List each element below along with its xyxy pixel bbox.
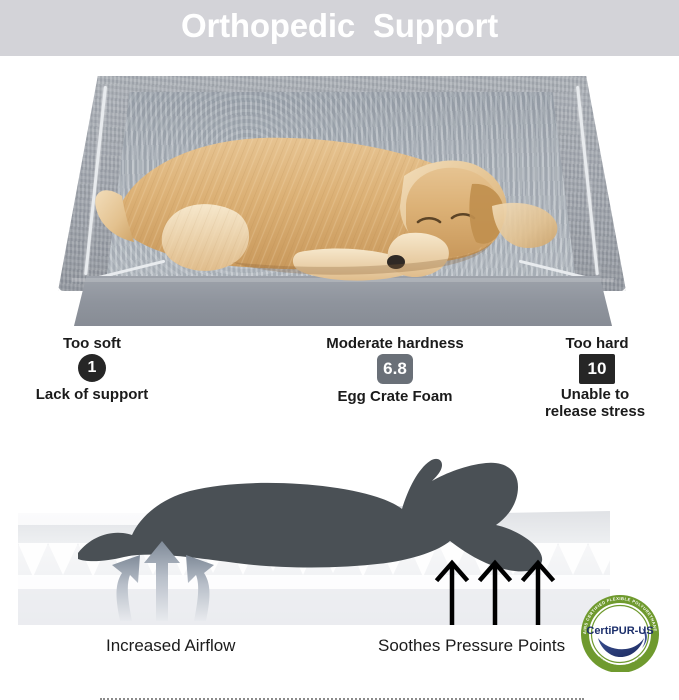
certipur-brand-text: CertiPUR-US <box>586 625 653 637</box>
scale-marker-1: 1 <box>78 354 106 382</box>
scale-label-too-soft: Too soft <box>30 335 154 352</box>
scale-marker-6-8: 6.8 <box>377 354 413 384</box>
scale-caption-unable-to-release-stress: Unable to release stress <box>520 386 670 420</box>
scale-label-moderate-hardness: Moderate hardness <box>300 335 490 352</box>
caption-soothes-pressure-points: Soothes Pressure Points <box>378 636 565 656</box>
scale-marker-10: 10 <box>579 354 615 384</box>
certipur-us-badge: CONTAINS CERTIFIED FLEXIBLE POLYURETHANE… <box>578 594 662 672</box>
golden-retriever-photo <box>0 56 679 326</box>
scale-caption-line2: release stress <box>545 403 645 420</box>
scale-caption-lack-of-support: Lack of support <box>8 386 176 403</box>
scale-label-too-hard: Too hard <box>535 335 659 352</box>
product-photo <box>0 56 679 326</box>
page-title: Orthopedic Support <box>0 0 679 56</box>
scale-caption-line1: Unable to <box>561 386 629 403</box>
scale-caption-egg-crate-foam: Egg Crate Foam <box>305 388 485 405</box>
caption-increased-airflow: Increased Airflow <box>106 636 235 656</box>
